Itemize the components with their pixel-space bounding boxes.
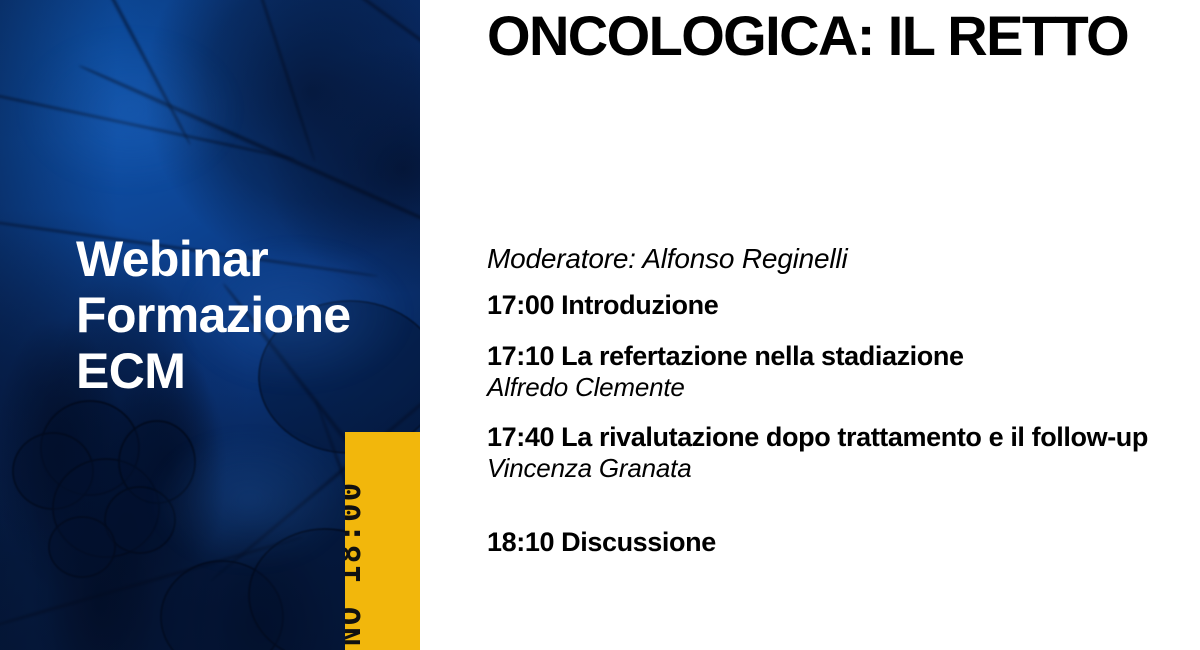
date-band-inner: NO 18:00 — [345, 432, 420, 650]
agenda-item-speaker: Vincenza Granata — [487, 453, 1187, 483]
agenda-item-heading: 17:00 Introduzione — [487, 290, 1187, 321]
date-time-label: NO 18:00 — [345, 481, 368, 646]
moderator-line: Moderatore: Alfonso Reginelli — [487, 242, 847, 276]
date-time-band: NO 18:00 — [345, 432, 420, 650]
page-title: DELLA STADIAZIONE ONCOLOGICA: IL RETTO — [487, 0, 1187, 64]
agenda-list: 17:00 Introduzione 17:10 La refertazione… — [487, 290, 1187, 578]
agenda-item: 17:10 La refertazione nella stadiazione … — [487, 341, 1187, 402]
agenda-item: 18:10 Discussione — [487, 527, 1187, 558]
agenda-item-heading: 18:10 Discussione — [487, 527, 1187, 558]
agenda-item: 17:00 Introduzione — [487, 290, 1187, 321]
agenda-item: 17:40 La rivalutazione dopo trattamento … — [487, 422, 1187, 483]
agenda-item-heading: 17:40 La rivalutazione dopo trattamento … — [487, 422, 1187, 453]
webinar-poster: Webinar Formazione ECM NO 18:00 DELLA ST… — [0, 0, 1200, 650]
agenda-item-speaker: Alfredo Clemente — [487, 372, 1187, 402]
agenda-item-heading: 17:10 La refertazione nella stadiazione — [487, 341, 1187, 372]
content-area: DELLA STADIAZIONE ONCOLOGICA: IL RETTO M… — [420, 0, 1200, 650]
webinar-headline: Webinar Formazione ECM — [76, 231, 406, 399]
